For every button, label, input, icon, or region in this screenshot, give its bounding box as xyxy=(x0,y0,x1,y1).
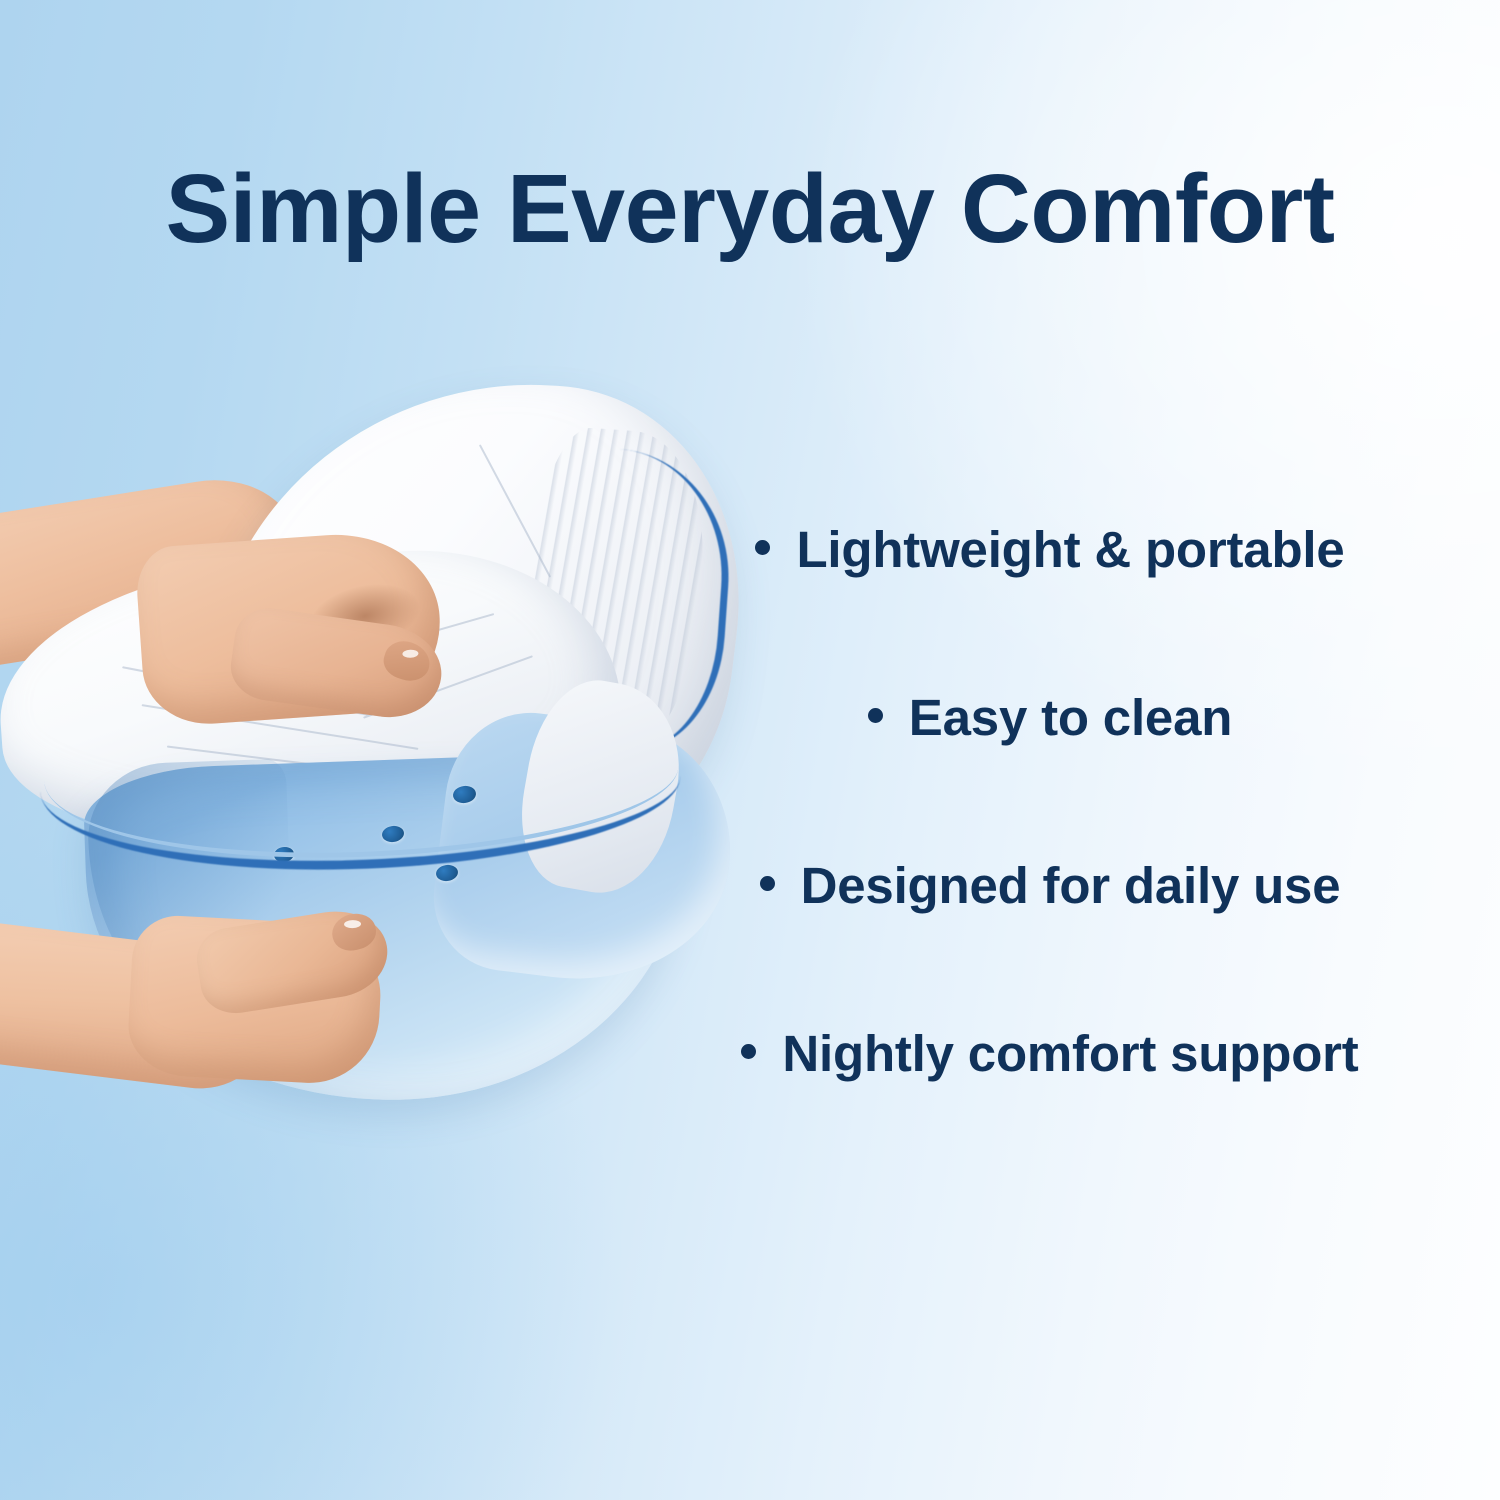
product-feature-banner: Simple Everyday Comfort Lightweight & po… xyxy=(0,0,1500,1500)
feature-label: Lightweight & portable xyxy=(796,520,1344,579)
bullet-dot-icon xyxy=(760,876,775,891)
bullet-dot-icon xyxy=(868,708,883,723)
feature-label: Nightly comfort support xyxy=(782,1024,1358,1083)
feature-label: Easy to clean xyxy=(909,688,1232,747)
feature-item-easy-to-clean: Easy to clean xyxy=(620,688,1480,856)
feature-label: Designed for daily use xyxy=(801,856,1341,915)
bullet-dot-icon xyxy=(755,540,770,555)
feature-item-lightweight-portable: Lightweight & portable xyxy=(620,520,1480,688)
feature-item-designed-for-daily-use: Designed for daily use xyxy=(620,856,1480,1024)
feature-list: Lightweight & portable Easy to clean Des… xyxy=(620,520,1480,1192)
bullet-dot-icon xyxy=(741,1044,756,1059)
feature-item-nightly-comfort-support: Nightly comfort support xyxy=(620,1024,1480,1192)
page-title: Simple Everyday Comfort xyxy=(0,158,1500,260)
